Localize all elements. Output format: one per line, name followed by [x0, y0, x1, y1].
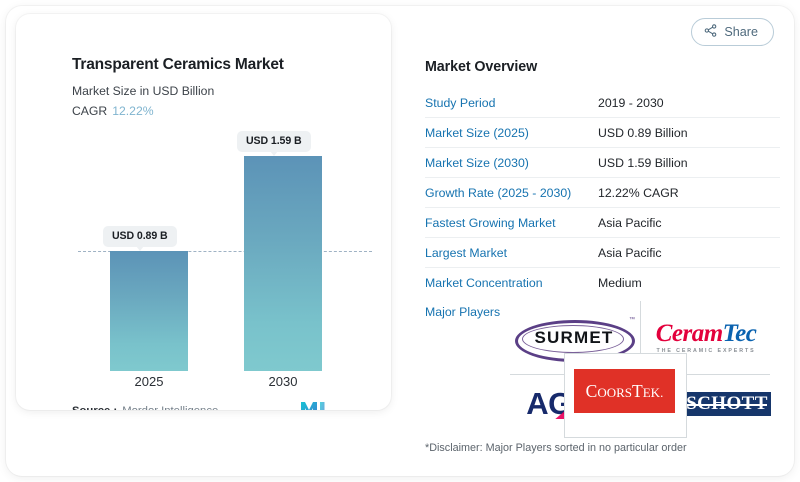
- table-row-key: Study Period: [425, 96, 598, 110]
- bar-chart-plot-area: USD 0.89 B USD 1.59 B: [72, 126, 372, 371]
- x-axis-label-2030: 2030: [238, 374, 328, 389]
- table-row-value: USD 1.59 Billion: [598, 156, 688, 170]
- bar-value-label-2030: USD 1.59 B: [237, 131, 311, 152]
- table-row: Study Period 2019 - 2030: [425, 88, 780, 118]
- table-row-key: Market Concentration: [425, 276, 598, 290]
- coorstek-wordmark-ek: EK.: [643, 385, 664, 400]
- table-row: Market Concentration Medium: [425, 268, 780, 297]
- chart-card: Transparent Ceramics Market Market Size …: [16, 14, 391, 410]
- table-row: Market Size (2025) USD 0.89 Billion: [425, 118, 780, 148]
- chart-subtitle: Market Size in USD Billion: [72, 84, 214, 98]
- table-row-key: Largest Market: [425, 246, 598, 260]
- market-overview-title: Market Overview: [425, 59, 537, 75]
- bar-value-label-2025: USD 0.89 B: [103, 226, 177, 247]
- cagr-value: 12.22%: [112, 104, 153, 118]
- ceramtec-wordmark-part2: Tec: [723, 320, 757, 347]
- table-row-value: 12.22% CAGR: [598, 186, 679, 200]
- x-axis-label-2025: 2025: [104, 374, 194, 389]
- coorstek-wordmark-oors: OORS: [597, 385, 632, 400]
- chart-cagr: CAGR12.22%: [72, 104, 154, 118]
- ceramtec-wordmark-part1: Ceram: [656, 320, 723, 347]
- cagr-label: CAGR: [72, 104, 107, 118]
- table-row-value: USD 0.89 Billion: [598, 126, 688, 140]
- market-overview-table: Study Period 2019 - 2030 Market Size (20…: [425, 88, 780, 327]
- surmet-wordmark: SURMET: [535, 328, 614, 348]
- table-row-value: Asia Pacific: [598, 246, 662, 260]
- major-players-logo-grid: SURMET ™ CeramTec THE CERAMIC EXPERTS AG…: [510, 301, 770, 436]
- coorstek-wordmark-c: C: [586, 381, 598, 401]
- table-row: Fastest Growing Market Asia Pacific: [425, 208, 780, 238]
- chart-title: Transparent Ceramics Market: [72, 56, 284, 74]
- bar-2025[interactable]: [110, 251, 188, 371]
- coorstek-wordmark-t: T: [632, 381, 643, 401]
- logo-coorstek: COORSTEK.: [574, 369, 675, 413]
- disclaimer-text: *Disclaimer: Major Players sorted in no …: [425, 442, 687, 454]
- share-nodes-icon: [704, 24, 717, 40]
- surmet-trademark: ™: [629, 317, 635, 323]
- table-row: Growth Rate (2025 - 2030) 12.22% CAGR: [425, 178, 780, 208]
- share-button[interactable]: Share: [691, 18, 774, 46]
- bar-2030[interactable]: [244, 156, 322, 371]
- mordor-intelligence-logo-icon: [301, 402, 325, 410]
- x-axis-labels: 2025 2030: [72, 374, 372, 394]
- screenshot-root: Transparent Ceramics Market Market Size …: [0, 0, 800, 482]
- source-label: Source :: [72, 405, 117, 410]
- table-row-key: Fastest Growing Market: [425, 216, 598, 230]
- coorstek-wordmark: COORSTEK.: [586, 381, 664, 402]
- source-name: Mordor Intelligence: [122, 405, 218, 410]
- source-row: Source :Mordor Intelligence: [72, 405, 372, 410]
- major-players-label: Major Players: [425, 305, 500, 319]
- schott-wordmark: SCHOTT: [686, 393, 768, 414]
- table-row: Largest Market Asia Pacific: [425, 238, 780, 268]
- table-row-value: 2019 - 2030: [598, 96, 664, 110]
- table-row-key: Market Size (2025): [425, 126, 598, 140]
- table-row-value: Asia Pacific: [598, 216, 662, 230]
- market-overview-panel: Share Market Overview Study Period 2019 …: [400, 14, 784, 470]
- table-row-key: Growth Rate (2025 - 2030): [425, 186, 598, 200]
- table-row: Market Size (2030) USD 1.59 Billion: [425, 148, 780, 178]
- table-row-value: Medium: [598, 276, 642, 290]
- share-button-label: Share: [724, 25, 758, 39]
- table-row-key: Market Size (2030): [425, 156, 598, 170]
- logo-schott: SCHOTT: [682, 379, 772, 429]
